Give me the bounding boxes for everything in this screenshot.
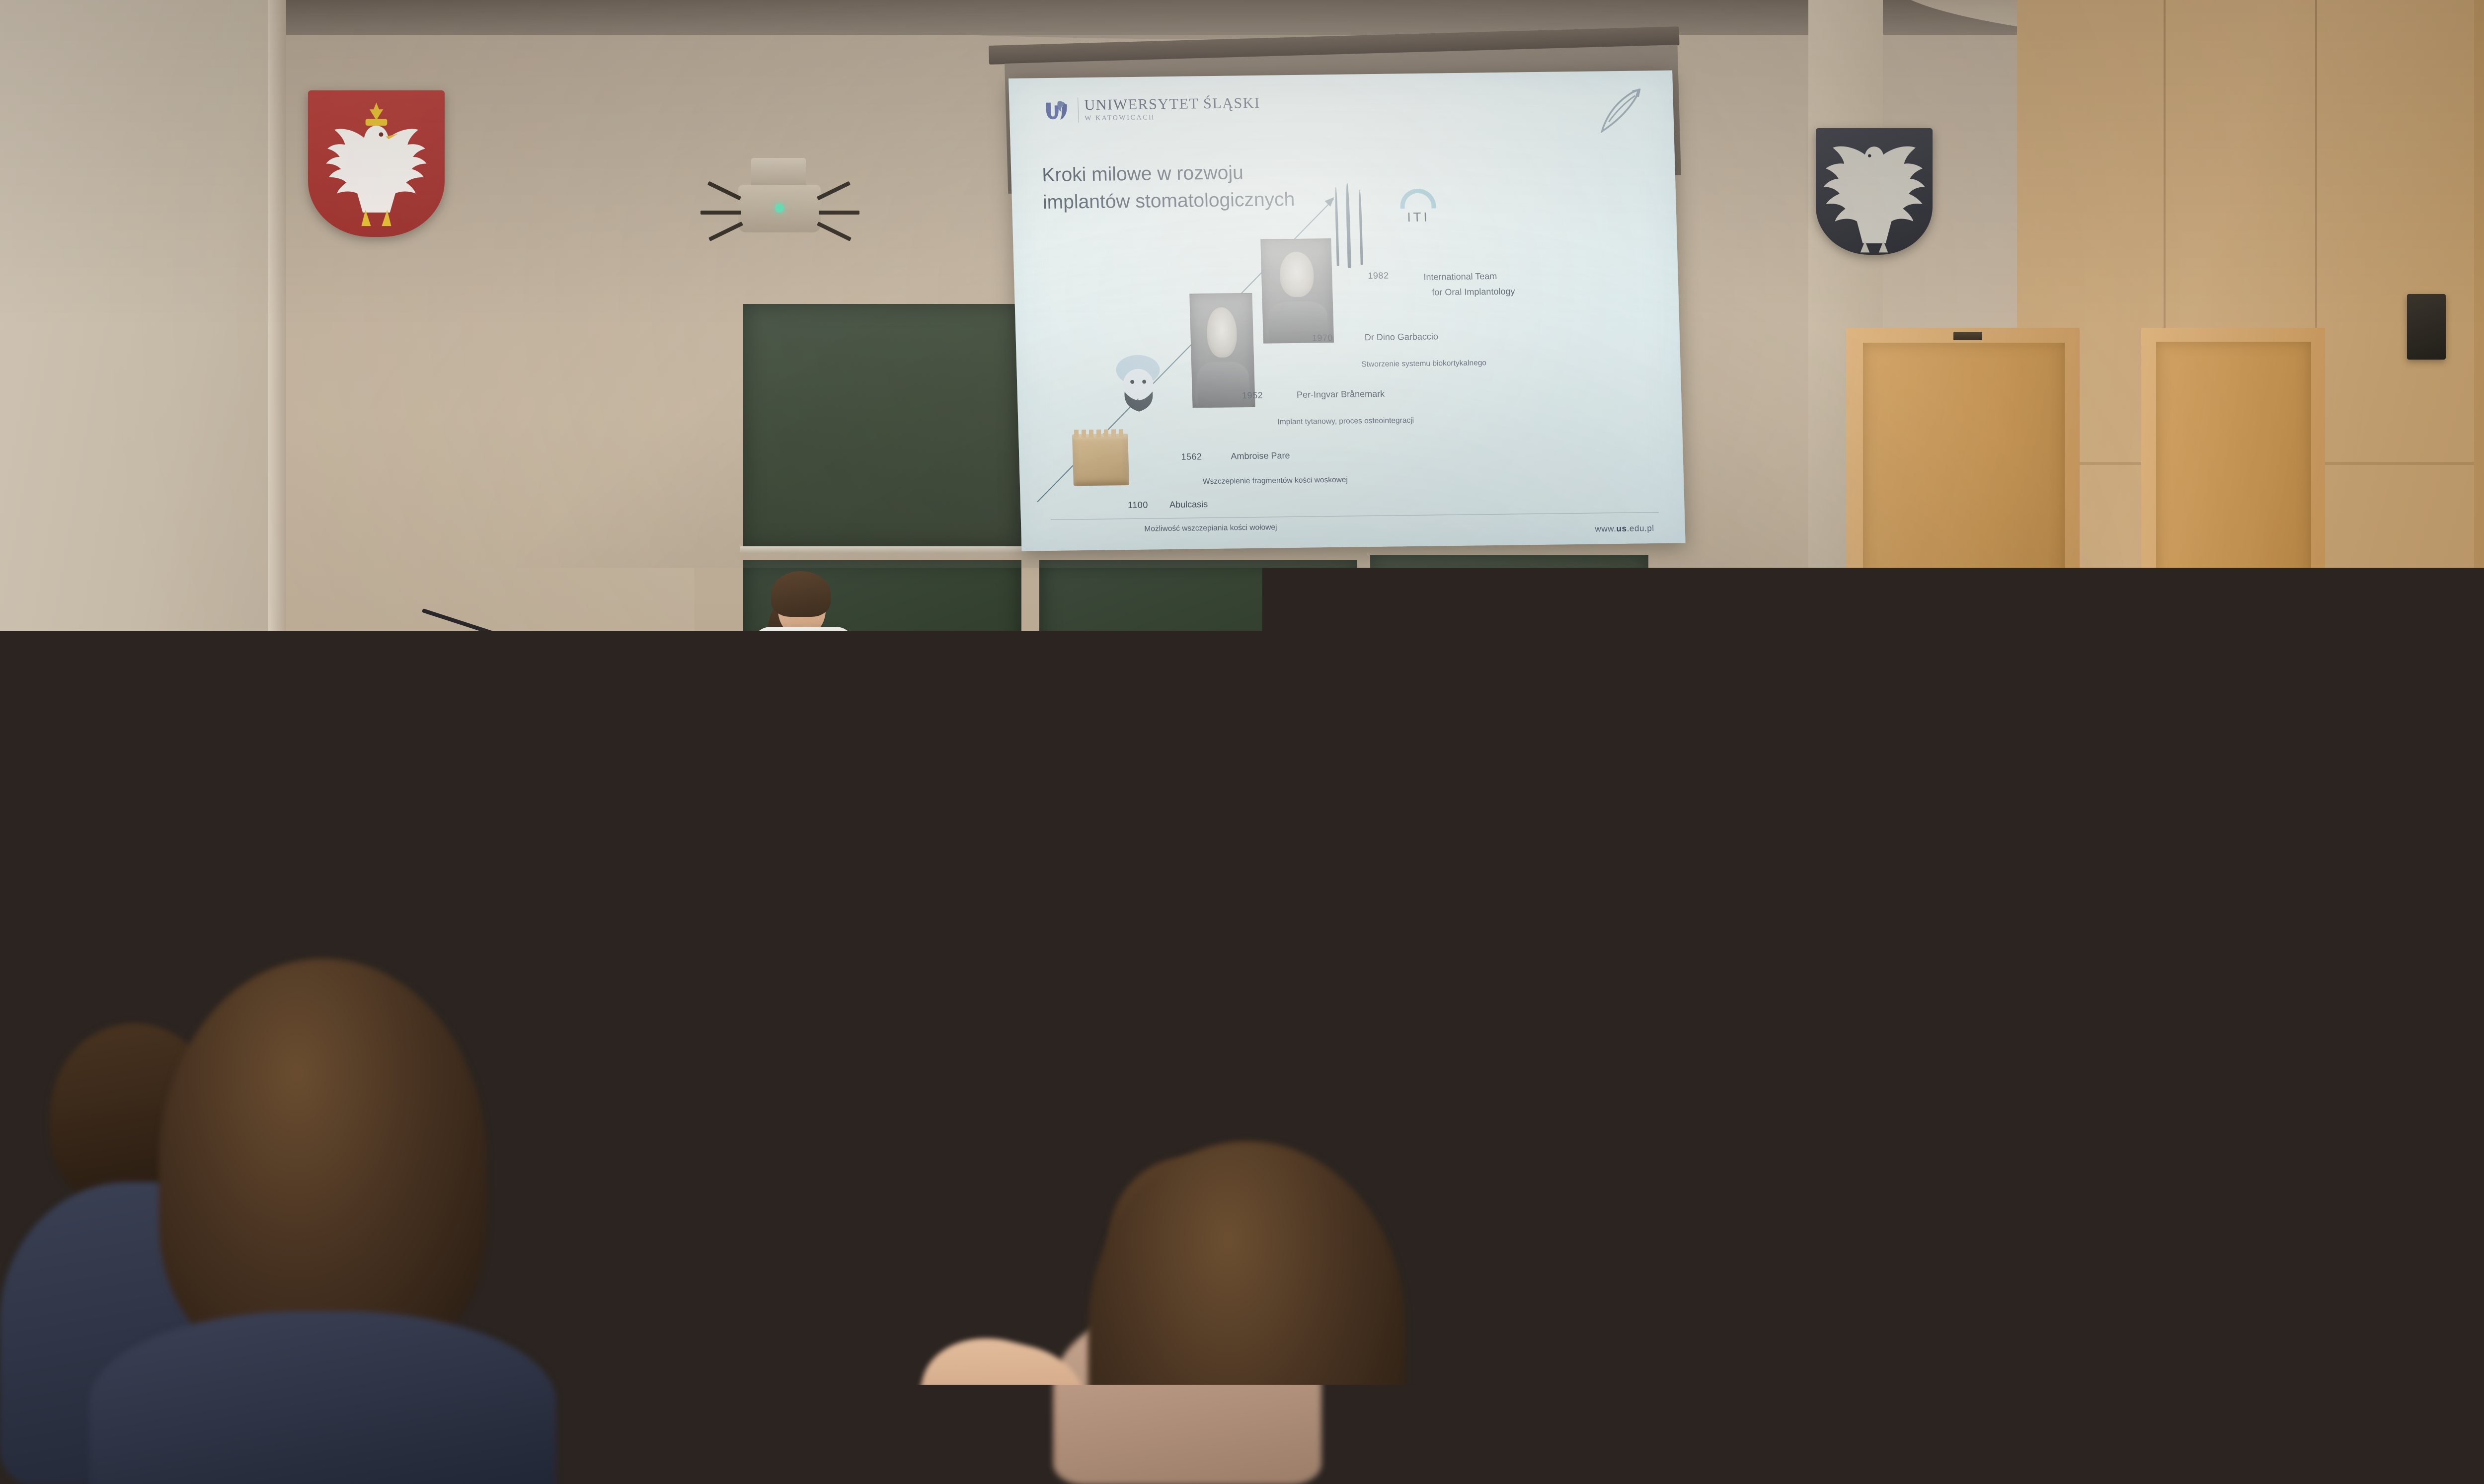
timeline-event-1952-desc: Implant tytanowy, proces osteointegracji (1277, 416, 1414, 427)
maya-jaw-artifact (1072, 434, 1129, 486)
timeline-event-1970: 1970 (1312, 333, 1333, 344)
door-sign-plate-left (1953, 332, 1982, 340)
slide-logo-line2: W KATOWICACH (1085, 113, 1261, 123)
event-name: Ambroise Pare (1231, 450, 1290, 461)
implant-pin-icon (1345, 183, 1351, 268)
timeline-event-1982: 1982 (1368, 271, 1389, 282)
slide-decoration-icon (1590, 84, 1650, 139)
slide-university-logo: UNIWERSYTET ŚLĄSKI W KATOWICACH (1042, 95, 1261, 127)
lectern-us-logo-icon (342, 739, 407, 792)
audience-head (681, 1193, 830, 1357)
polish-coat-of-arms-icon (308, 90, 445, 237)
timeline-event-1100: 1100 (1128, 500, 1148, 511)
event-desc: Możliwość wszczepiania kości wołowej (1144, 523, 1277, 533)
keyboard[interactable] (1284, 807, 1373, 817)
monitor-left[interactable] (1295, 710, 1412, 803)
event-name: Abulcasis (1169, 499, 1208, 510)
audience-head (1380, 995, 1477, 1099)
chair-leg (671, 819, 675, 919)
timeline-event-1970-desc: Stworzenie systemu biokortykalnego (1361, 359, 1486, 369)
projector-spoke (819, 211, 859, 215)
portrait-abulcasis (1110, 353, 1167, 423)
timeline-event-1952: 1952 (1242, 390, 1263, 401)
timeline-event-1970-name: Dr Dino Garbaccio (1365, 331, 1439, 343)
door-right[interactable] (2156, 342, 2311, 909)
timeline-event-1562-desc: Wszczepienie fragmentów kości woskowej (1203, 476, 1348, 487)
audience-torso (89, 1311, 556, 1484)
event-desc: Implant tytanowy, proces osteointegracji (1277, 416, 1414, 426)
bench-edge (900, 987, 1684, 998)
microphone-capsule-icon (409, 640, 426, 653)
microphone-pole (502, 651, 506, 859)
iti-arc-icon (1400, 188, 1436, 209)
audience-torso (2085, 1152, 2277, 1327)
lecture-hall-photo: UNIWERSYTET ŚLĄSKI W KATOWICACH Kroki mi… (0, 0, 2484, 1484)
chalkboard-ledge (740, 546, 1026, 553)
audience-head (2350, 1023, 2474, 1162)
timeline-event-1952-name: Per-Ingvar Brånemark (1297, 389, 1385, 400)
door-handle-left[interactable] (1869, 606, 1873, 629)
monitor-right[interactable] (1414, 707, 1530, 802)
microphone-joint (497, 682, 512, 697)
chair-seat-left (592, 794, 683, 820)
silesian-eagle-crest-icon (1816, 128, 1933, 255)
wall-shelf (1488, 709, 1578, 715)
portrait-branemark (1260, 238, 1334, 344)
chair-leg (827, 798, 831, 917)
slide-website: www.us.edu.pl (1595, 523, 1654, 534)
timeline-event-1562-name: Ambroise Pare (1231, 450, 1290, 461)
chalkboard-upper-left (743, 304, 1021, 547)
audience-head (994, 1127, 1103, 1247)
monitor-left-foot (1321, 818, 1379, 826)
slide-logo-line1: UNIWERSYTET ŚLĄSKI (1084, 95, 1260, 113)
timeline-event-1100-name: Abulcasis (1169, 499, 1208, 510)
event-name-2: for Oral Implantology (1432, 287, 1515, 298)
slide-footer-rule (1051, 512, 1659, 520)
slide-title: Kroki milowe w rozwoju implantów stomato… (1042, 158, 1321, 217)
iti-logo: ITI (1386, 188, 1451, 225)
presenter-held-object (847, 686, 877, 709)
www-prefix: www. (1595, 524, 1617, 534)
projector-status-led (775, 204, 784, 213)
projection-screen: UNIWERSYTET ŚLĄSKI W KATOWICACH Kroki mi… (1009, 71, 1686, 551)
monitor-right-foot (1441, 818, 1498, 826)
audience-torso (2310, 1148, 2484, 1337)
audience-torso (636, 1336, 874, 1484)
cable (1371, 834, 1520, 924)
wall-speaker-icon (2407, 294, 2446, 360)
left-wall-edge (268, 0, 286, 1018)
audience-head (159, 959, 487, 1366)
chair-leg (599, 819, 603, 919)
chair-leg (751, 798, 756, 917)
timeline-event-1100-desc: Możliwość wszczepiania kości wołowej (1144, 523, 1277, 533)
event-year: 1982 (1368, 271, 1389, 281)
event-name: International Team (1423, 271, 1515, 283)
www-suffix: .edu.pl (1627, 523, 1654, 533)
implant-pin-icon (1359, 189, 1363, 265)
timeline-event-1562: 1562 (1181, 451, 1202, 462)
audience-torso (1550, 1003, 2047, 1484)
us-logo-mark-icon (1042, 97, 1072, 127)
lectern (305, 684, 440, 903)
projector-spoke (700, 211, 741, 215)
event-year: 1100 (1128, 500, 1148, 510)
www-brand: us (1616, 524, 1627, 533)
slide-title-line2: implantów stomatologicznych (1042, 186, 1321, 217)
mouse[interactable] (1262, 804, 1283, 818)
door-handle-right[interactable] (2162, 616, 2167, 639)
event-name: Per-Ingvar Brånemark (1297, 389, 1385, 400)
event-desc: Wszczepienie fragmentów kości woskowej (1203, 476, 1348, 486)
audience-head (1401, 1107, 1515, 1231)
iti-label: ITI (1386, 209, 1451, 225)
event-year: 1562 (1181, 451, 1202, 462)
left-wall-panel (0, 0, 278, 1018)
event-desc: Stworzenie systemu biokortykalnego (1361, 359, 1486, 369)
wall-outlet-plate (2370, 673, 2411, 690)
green-object (1504, 695, 1550, 711)
event-year: 1970 (1312, 333, 1333, 343)
event-year: 1952 (1242, 390, 1263, 401)
timeline-event-1982-name: International Team for Oral Implantology (1423, 271, 1515, 298)
chair-seat-presenter (745, 769, 839, 799)
slide-title-line1: Kroki milowe w rozwoju (1042, 158, 1321, 189)
event-name: Dr Dino Garbaccio (1365, 331, 1439, 342)
presenter-hair (771, 571, 831, 617)
audience-head (2121, 1042, 2236, 1166)
